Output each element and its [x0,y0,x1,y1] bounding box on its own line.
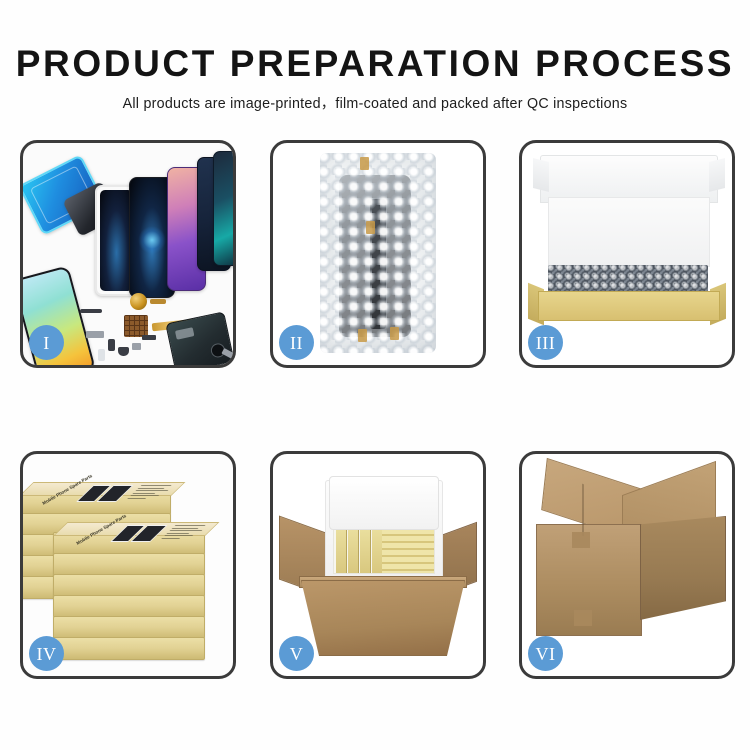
part-gold-strip-f [150,299,166,304]
yellow-tray-front-image [538,291,720,321]
process-step-4: Mobile Phone Spare Parts [20,451,236,679]
tape-piece-bottom-left [358,329,367,342]
step-1-panel: I [20,140,236,368]
process-step-1: I [20,140,236,368]
process-step-6: VI [519,451,735,679]
page-subtitle: All products are image-printed，film-coat… [0,86,750,113]
bubble-padding-layer-image [548,265,708,293]
spare-parts-cluster [78,291,233,365]
step-4-number-badge: IV [29,636,64,671]
step-3-panel: III [519,140,735,368]
packed-retail-boxes-image [333,528,435,574]
page-title: PRODUCT PREPARATION PROCESS [0,0,750,86]
process-steps-grid: I II [20,140,735,685]
teal-ribbon-phone-image [213,151,233,266]
chip-array-image [124,315,148,337]
white-box-lid-image [540,155,718,203]
step-6-panel: VI [519,451,735,679]
sealed-carton-side-face [640,516,726,620]
foam-sheet-image [548,197,710,267]
step-2-number-badge: II [279,325,314,360]
tape-piece-top [360,157,369,170]
carton-tape-upper [572,532,590,548]
step-2-panel: II [270,140,486,368]
part-button-c [108,339,115,351]
part-connector-a [80,309,102,313]
process-step-2: II [270,140,486,368]
process-step-3: III [519,140,735,368]
part-camera-e [118,347,129,356]
step-3-number-badge: III [528,325,563,360]
step-4-panel: Mobile Phone Spare Parts [20,451,236,679]
step-1-number-badge: I [29,325,64,360]
carton-tape-lower [574,610,592,626]
part-sim-tray-d [98,349,105,361]
speaker-module-icon [130,293,147,310]
tweezers-image [231,292,233,325]
tape-piece-bottom-right [390,327,399,340]
step-6-number-badge: VI [528,636,563,671]
header: PRODUCT PREPARATION PROCESS All products… [0,0,750,113]
tape-piece-middle [366,221,375,234]
step-5-number-badge: V [279,636,314,671]
part-bracket-b [86,331,104,338]
foam-box-lid-image [329,476,439,530]
bubble-wrap-bag-image [320,153,436,353]
part-shield-g [132,343,141,350]
step-5-panel: V [270,451,486,679]
process-step-5: V [270,451,486,679]
product-preparation-process-infographic: PRODUCT PREPARATION PROCESS All products… [0,0,750,750]
phone-back-housing-image [165,311,233,365]
carton-body-image [301,580,465,656]
carton-top-seam [582,484,584,537]
part-antenna-h [142,335,156,340]
bubble-texture [320,153,436,353]
